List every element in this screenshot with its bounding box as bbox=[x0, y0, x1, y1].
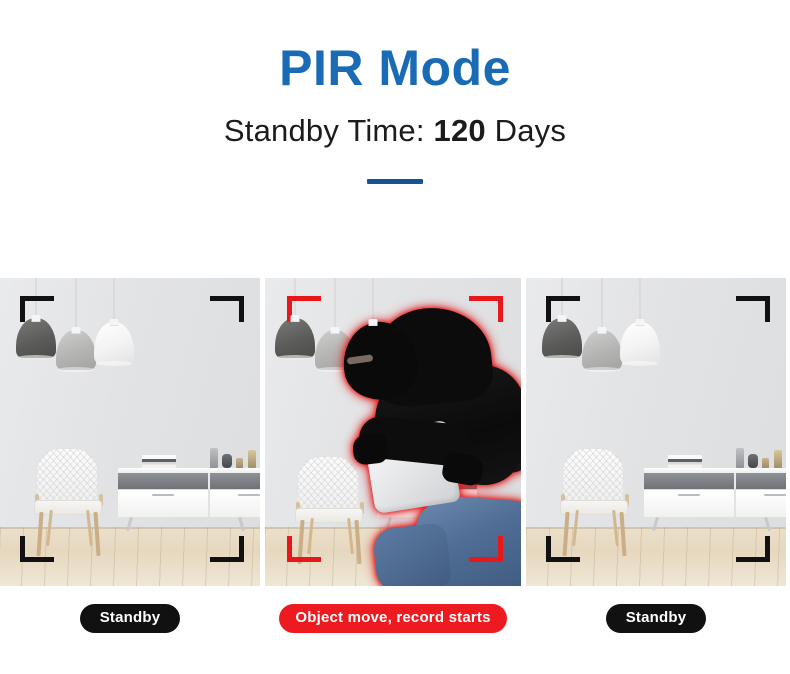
lamp-shade bbox=[56, 330, 96, 370]
bracket-arm-vertical bbox=[546, 536, 551, 562]
lamp-shade bbox=[275, 318, 315, 358]
bracket-bottom-left bbox=[287, 536, 321, 562]
bracket-arm-horizontal bbox=[287, 296, 321, 301]
drawer-handle-left bbox=[152, 494, 174, 496]
lamp-shade bbox=[16, 318, 56, 358]
status-badge-recording: Object move, record starts bbox=[279, 604, 506, 633]
page-title: PIR Mode bbox=[0, 42, 790, 94]
lamp-cap bbox=[598, 327, 607, 334]
bracket-arm-vertical bbox=[498, 296, 503, 322]
caption-cell-middle: Object move, record starts bbox=[265, 604, 521, 640]
books-stack bbox=[142, 455, 176, 468]
standby-time-label: Standby Time: bbox=[224, 113, 434, 148]
caption-cell-right: Standby bbox=[526, 604, 786, 640]
divider-wrap bbox=[0, 179, 790, 184]
sideboard bbox=[644, 468, 786, 518]
pendant-lamp-white bbox=[94, 278, 134, 364]
lamp-shade bbox=[620, 322, 660, 364]
section-divider bbox=[367, 179, 423, 184]
bracket-arm-vertical bbox=[498, 536, 503, 562]
bracket-arm-vertical bbox=[765, 296, 770, 322]
bracket-bottom-left bbox=[20, 536, 54, 562]
lamp-cap bbox=[369, 319, 378, 326]
lamp-cap bbox=[636, 319, 645, 326]
drawer-handle-right bbox=[764, 494, 786, 496]
bracket-arm-vertical bbox=[546, 296, 551, 322]
sideboard-drawers bbox=[118, 489, 260, 517]
standby-time-line: Standby Time: 120 Days bbox=[0, 113, 790, 149]
panel-standby-right[interactable] bbox=[526, 278, 786, 586]
bracket-arm-vertical bbox=[20, 296, 25, 322]
chair-leg-back-right bbox=[86, 510, 93, 546]
sideboard-shelf bbox=[118, 473, 260, 489]
bracket-arm-vertical bbox=[765, 536, 770, 562]
panel-row bbox=[0, 278, 790, 586]
bracket-bottom-right bbox=[469, 536, 503, 562]
lamp-cap bbox=[331, 327, 340, 334]
books-stack bbox=[668, 455, 702, 468]
intruder-glove-left bbox=[352, 432, 389, 465]
bracket-top-right bbox=[469, 296, 503, 322]
bracket-bottom-right bbox=[736, 536, 770, 562]
bracket-top-right bbox=[736, 296, 770, 322]
panel-motion-detected[interactable] bbox=[265, 278, 521, 586]
sideboard-shelf bbox=[644, 473, 786, 489]
drawer-handle-left bbox=[678, 494, 700, 496]
lamp-shade bbox=[582, 330, 622, 370]
pir-mode-page: PIR Mode Standby Time: 120 Days bbox=[0, 0, 790, 674]
drawer-divider bbox=[208, 490, 210, 517]
bracket-arm-horizontal bbox=[20, 557, 54, 562]
vase-tall bbox=[210, 448, 218, 468]
lamp-cap bbox=[110, 319, 119, 326]
standby-time-unit: Days bbox=[486, 113, 566, 148]
chair-back bbox=[562, 448, 624, 504]
status-badge-standby-right: Standby bbox=[606, 604, 707, 633]
vase-round bbox=[748, 454, 758, 468]
chair-back bbox=[36, 448, 98, 504]
pendant-lamp-gray bbox=[56, 278, 96, 370]
lamp-cap bbox=[72, 327, 81, 334]
vase-gold bbox=[248, 450, 256, 468]
vase-gold bbox=[774, 450, 782, 468]
bracket-bottom-left bbox=[546, 536, 580, 562]
chair-seat bbox=[34, 500, 102, 515]
bracket-arm-horizontal bbox=[287, 557, 321, 562]
lamp-cap bbox=[32, 315, 41, 322]
caption-row: Standby Object move, record starts Stand… bbox=[0, 604, 790, 640]
bracket-arm-vertical bbox=[239, 536, 244, 562]
bracket-arm-vertical bbox=[239, 296, 244, 322]
bracket-bottom-right bbox=[210, 536, 244, 562]
shelf-divider bbox=[734, 473, 736, 489]
bracket-arm-horizontal bbox=[20, 296, 54, 301]
lamp-shade bbox=[94, 322, 134, 364]
bracket-arm-vertical bbox=[20, 536, 25, 562]
vase-small bbox=[762, 458, 769, 468]
pendant-lamp-white bbox=[620, 278, 660, 364]
bracket-arm-horizontal bbox=[546, 296, 580, 301]
panel-standby-left[interactable] bbox=[0, 278, 260, 586]
drawer-handle-right bbox=[238, 494, 260, 496]
chair-seat bbox=[560, 500, 628, 515]
drawer-divider bbox=[734, 490, 736, 517]
chair-leg-front-right bbox=[93, 512, 100, 556]
standby-time-value: 120 bbox=[434, 113, 486, 148]
shelf-divider bbox=[208, 473, 210, 489]
header: PIR Mode Standby Time: 120 Days bbox=[0, 0, 790, 184]
chair-leg-front-right bbox=[619, 512, 626, 556]
vase-tall bbox=[736, 448, 744, 468]
lamp-cap bbox=[291, 315, 300, 322]
pendant-lamp-gray bbox=[582, 278, 622, 370]
bracket-top-right bbox=[210, 296, 244, 322]
chair-leg-back-right bbox=[612, 510, 619, 546]
status-badge-standby-left: Standby bbox=[80, 604, 181, 633]
sideboard-drawers bbox=[644, 489, 786, 517]
intruder-jeans-back-leg bbox=[372, 522, 452, 586]
vase-small bbox=[236, 458, 243, 468]
bracket-arm-vertical bbox=[287, 536, 292, 562]
sideboard bbox=[118, 468, 260, 518]
bracket-arm-horizontal bbox=[546, 557, 580, 562]
caption-cell-left: Standby bbox=[0, 604, 260, 640]
lamp-cap bbox=[558, 315, 567, 322]
lamp-shade bbox=[542, 318, 582, 358]
vase-round bbox=[222, 454, 232, 468]
